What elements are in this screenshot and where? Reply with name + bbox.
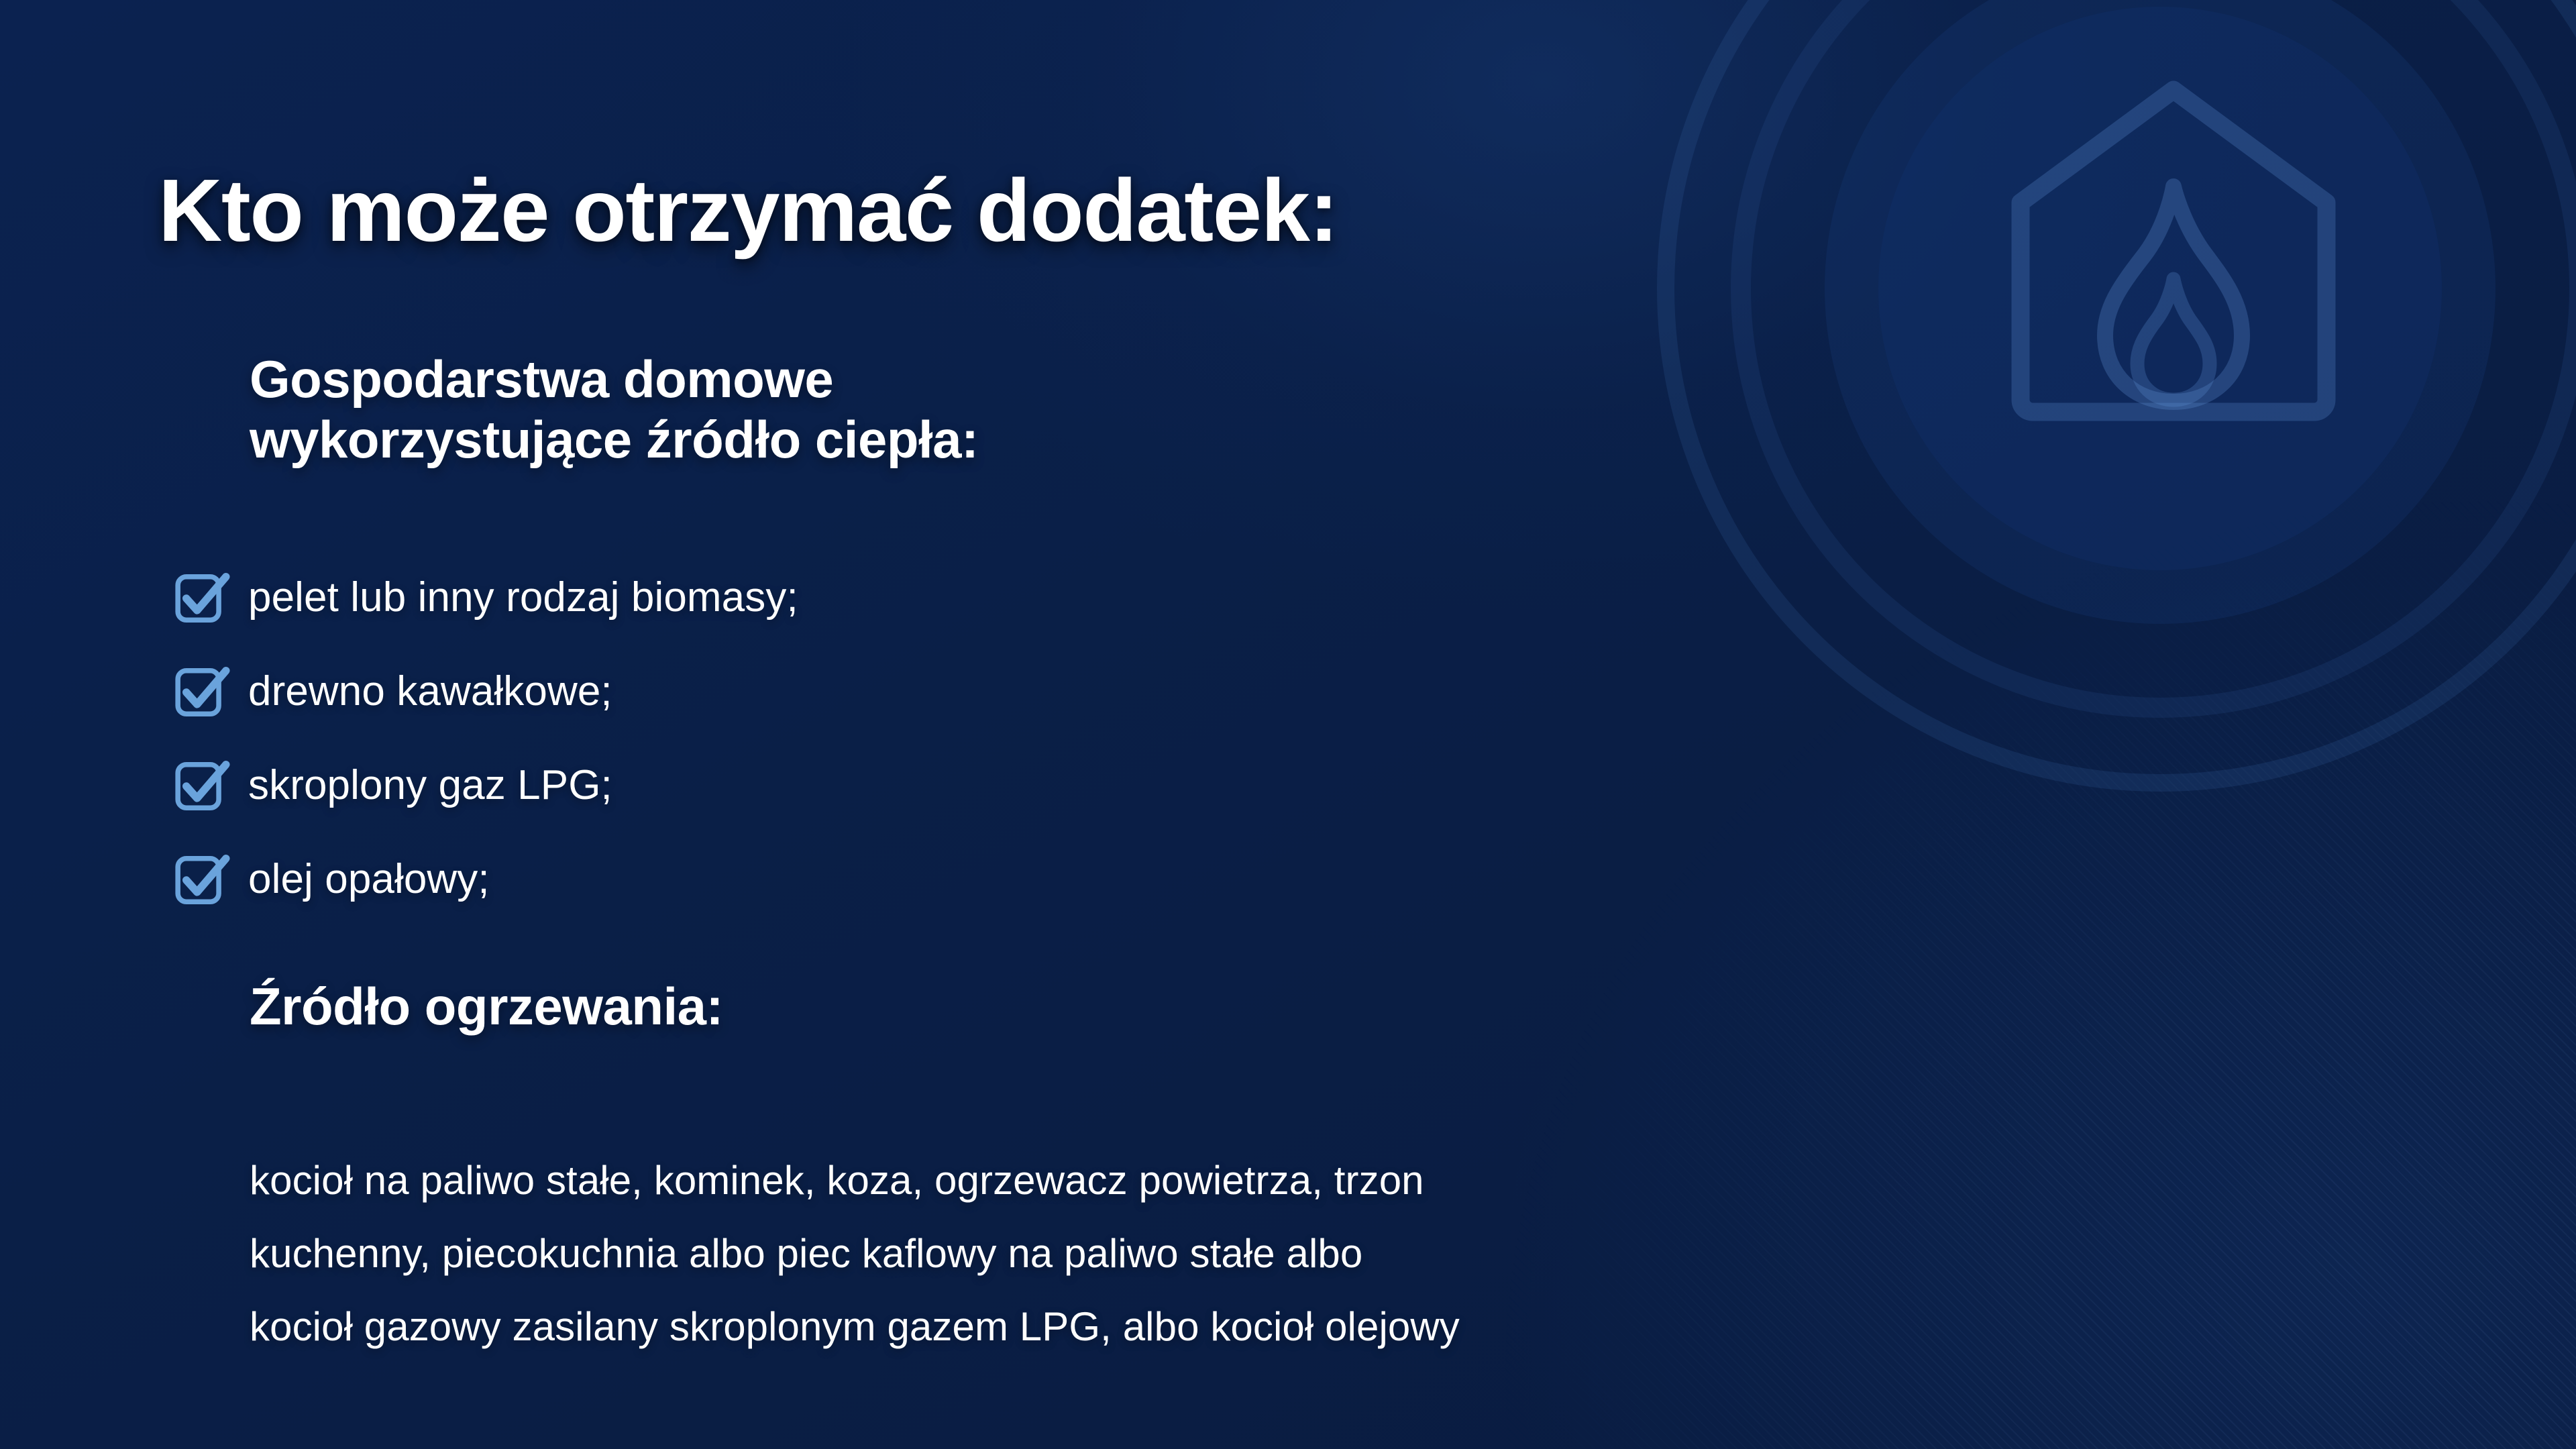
list-item-label: drewno kawałkowe; <box>248 667 612 715</box>
subheading-line-1: Gospodarstwa domowe <box>250 349 979 409</box>
body-line-1: kocioł na paliwo stałe, kominek, koza, o… <box>250 1144 1460 1217</box>
body-line-3: kocioł gazowy zasilany skroplonym gazem … <box>250 1290 1460 1363</box>
checkbox-checked-icon <box>173 663 231 721</box>
checkbox-checked-icon <box>173 851 231 909</box>
body-line-2: kuchenny, piecokuchnia albo piec kaflowy… <box>250 1217 1460 1290</box>
subheading: Gospodarstwa domowe wykorzystujące źródł… <box>250 349 979 470</box>
body-paragraph: kocioł na paliwo stałe, kominek, koza, o… <box>250 1144 1460 1364</box>
list-item-label: skroplony gaz LPG; <box>248 761 612 809</box>
slide-canvas: Kto może otrzymać dodatek: Gospodarstwa … <box>0 0 2576 1449</box>
section-heading-heat-source: Źródło ogrzewania: <box>250 976 723 1037</box>
page-title: Kto może otrzymać dodatek: <box>158 160 1338 261</box>
checkbox-checked-icon <box>173 757 231 815</box>
list-item: skroplony gaz LPG; <box>173 738 798 832</box>
slide-content: Kto może otrzymać dodatek: Gospodarstwa … <box>0 0 2576 1449</box>
list-item: drewno kawałkowe; <box>173 644 798 738</box>
list-item: olej opałowy; <box>173 832 798 926</box>
list-item-label: pelet lub inny rodzaj biomasy; <box>248 574 798 621</box>
subheading-line-2: wykorzystujące źródło ciepła: <box>250 409 979 470</box>
eligibility-checklist: pelet lub inny rodzaj biomasy; drewno ka… <box>173 550 798 926</box>
list-item: pelet lub inny rodzaj biomasy; <box>173 550 798 644</box>
list-item-label: olej opałowy; <box>248 855 490 903</box>
checkbox-checked-icon <box>173 570 231 627</box>
